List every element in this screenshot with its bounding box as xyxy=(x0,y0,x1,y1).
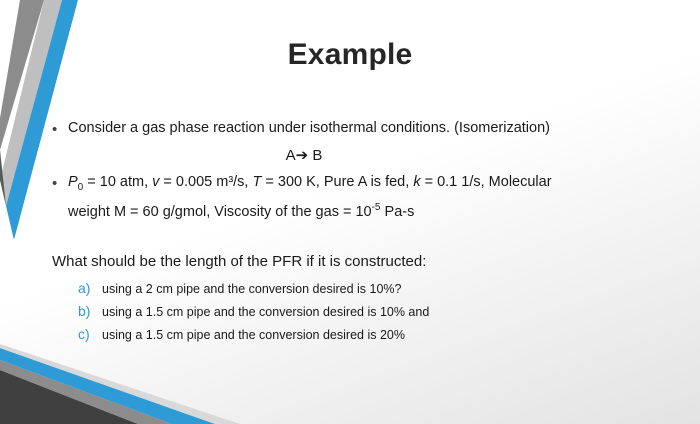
option-text-b: using a 1.5 cm pipe and the conversion d… xyxy=(102,304,429,321)
slide-body: • Consider a gas phase reaction under is… xyxy=(52,118,676,349)
question-text: What should be the length of the PFR if … xyxy=(52,252,676,272)
rate-constant-value: = 0.1 1/s, Molecular xyxy=(421,174,552,190)
volumetric-flow-value: = 0.005 m³/s, xyxy=(159,174,252,190)
reaction-equation: A➔ B xyxy=(52,146,676,164)
pressure-value: = 10 atm, xyxy=(83,174,152,190)
viscosity-unit: Pa-s xyxy=(381,204,415,220)
option-label-a: a) xyxy=(78,280,102,296)
option-label-b: b) xyxy=(78,303,102,319)
bullet-item-given-data: • P0 = 10 atm, v = 0.005 m³/s, T = 300 K… xyxy=(52,172,676,222)
slide-canvas: Example • Consider a gas phase reaction … xyxy=(0,0,700,424)
option-item-c: c) using a 1.5 cm pipe and the conversio… xyxy=(78,326,676,344)
option-text-c: using a 1.5 cm pipe and the conversion d… xyxy=(102,327,405,344)
bullet-item-reaction-statement: • Consider a gas phase reaction under is… xyxy=(52,118,676,141)
option-item-a: a) using a 2 cm pipe and the conversion … xyxy=(78,280,676,298)
bullet-marker-icon-2: • xyxy=(52,172,68,195)
bullet-marker-icon: • xyxy=(52,118,68,141)
options-list: a) using a 2 cm pipe and the conversion … xyxy=(78,280,676,344)
viscosity-exponent: -5 xyxy=(372,202,381,213)
pressure-symbol: P xyxy=(68,174,78,190)
option-label-c: c) xyxy=(78,326,102,342)
slide-title: Example xyxy=(0,38,700,72)
option-text-a: using a 2 cm pipe and the conversion des… xyxy=(102,281,402,298)
option-item-b: b) using a 1.5 cm pipe and the conversio… xyxy=(78,303,676,321)
molecular-weight-viscosity-text: weight M = 60 g/gmol, Viscosity of the g… xyxy=(68,204,372,220)
given-data-text: P0 = 10 atm, v = 0.005 m³/s, T = 300 K, … xyxy=(68,172,676,222)
bullet-text-reaction-statement: Consider a gas phase reaction under isot… xyxy=(68,118,676,138)
temperature-value: = 300 K, Pure A is fed, xyxy=(261,174,413,190)
rate-constant-symbol: k xyxy=(413,174,420,190)
